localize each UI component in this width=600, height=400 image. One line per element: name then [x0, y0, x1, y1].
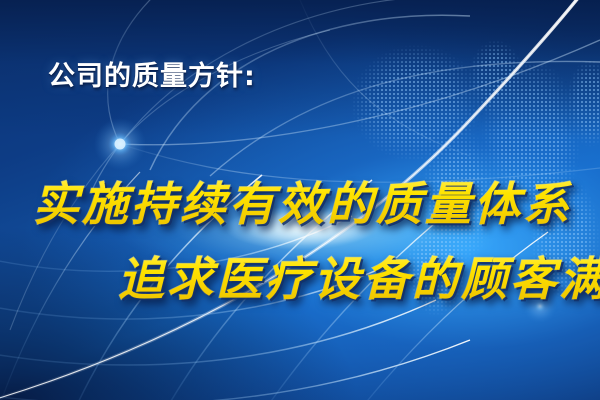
slogan-line-2: 追求医疗设备的顾客满意 — [118, 243, 600, 309]
quality-policy-banner: 公司的质量方针: 实施持续有效的质量体系 实施持续有效的质量体系 追求医疗设备的… — [0, 0, 600, 400]
slogan-line-1: 实施持续有效的质量体系 — [33, 168, 572, 234]
page-title: 公司的质量方针: — [48, 54, 256, 93]
